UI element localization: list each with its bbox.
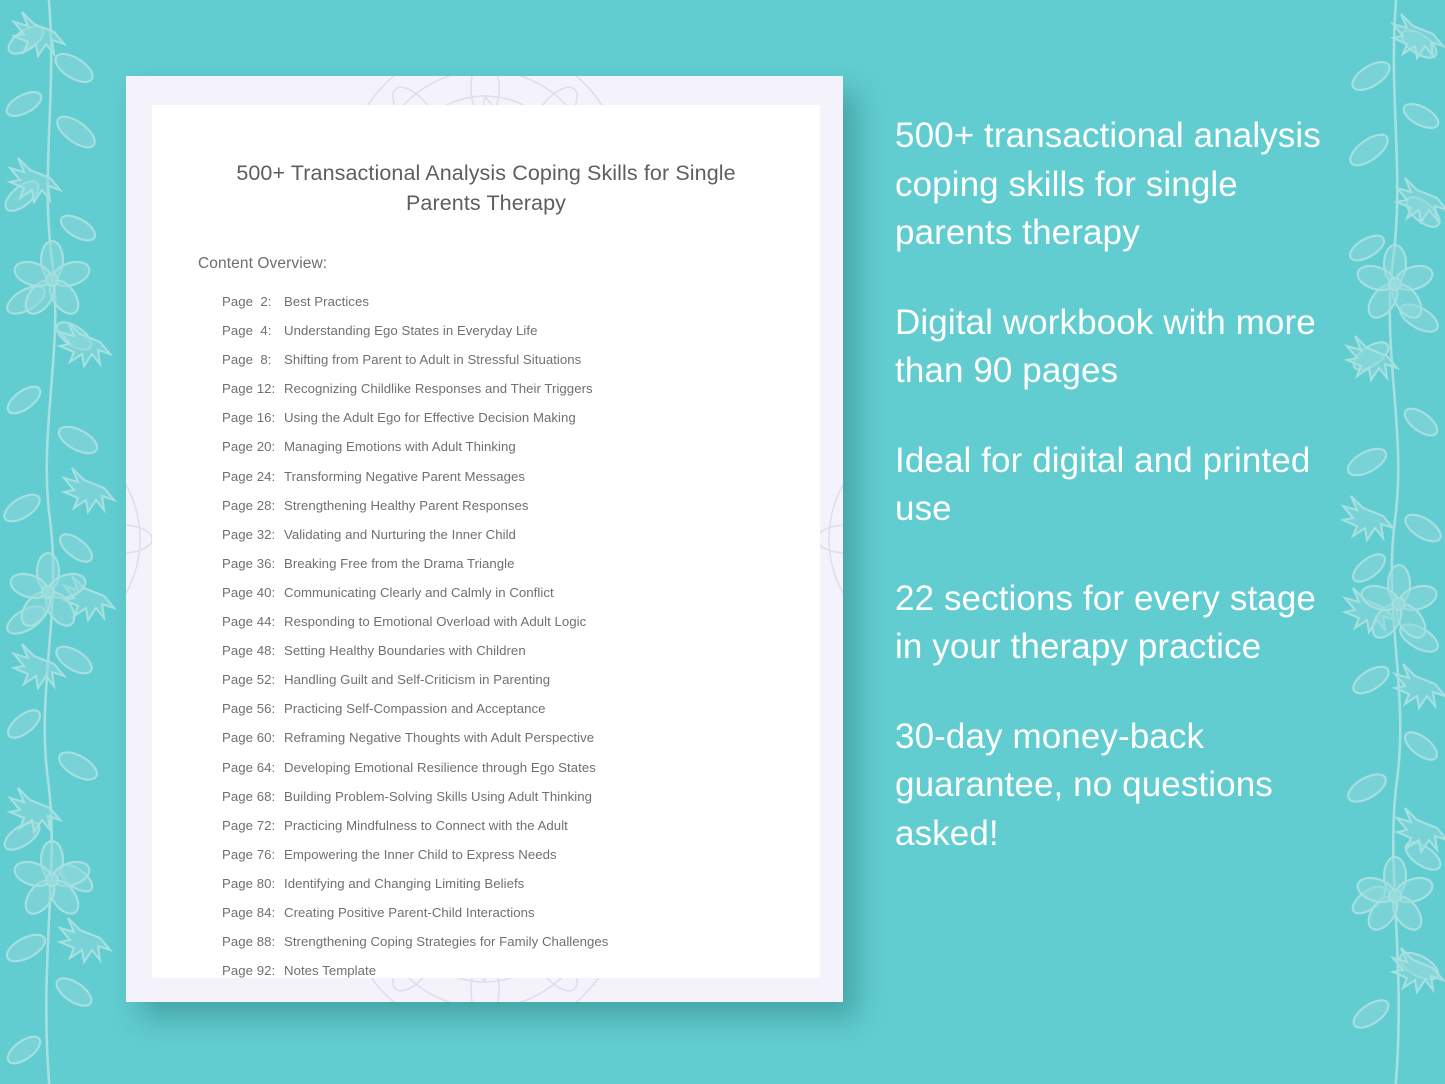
toc-entry-page: Page 88: bbox=[222, 927, 284, 956]
toc-entry-page: Page 84: bbox=[222, 898, 284, 927]
promo-line: 500+ transactional analysis coping skill… bbox=[895, 112, 1325, 258]
toc-entry: Page 2:Best Practices bbox=[222, 287, 820, 316]
toc-entry-title: Responding to Emotional Overload with Ad… bbox=[284, 614, 586, 629]
toc-entry-page: Page 80: bbox=[222, 869, 284, 898]
toc-entry-page: Page 16: bbox=[222, 403, 284, 432]
floral-vine-icon bbox=[0, 0, 128, 1084]
toc-entry: Page 8:Shifting from Parent to Adult in … bbox=[222, 345, 820, 374]
toc-entry-title: Building Problem-Solving Skills Using Ad… bbox=[284, 789, 592, 804]
toc-entry-page: Page 4: bbox=[222, 316, 284, 345]
toc-entry-page: Page 60: bbox=[222, 723, 284, 752]
toc-entry-page: Page 68: bbox=[222, 782, 284, 811]
toc-entry: Page 76:Empowering the Inner Child to Ex… bbox=[222, 840, 820, 869]
toc-entry-title: Practicing Self-Compassion and Acceptanc… bbox=[284, 701, 546, 716]
toc-entry: Page 12:Recognizing Childlike Responses … bbox=[222, 374, 820, 403]
toc-entry-title: Understanding Ego States in Everyday Lif… bbox=[284, 323, 538, 338]
toc-entry-page: Page 32: bbox=[222, 520, 284, 549]
toc-entry: Page 92:Notes Template bbox=[222, 956, 820, 985]
toc-entry-title: Creating Positive Parent-Child Interacti… bbox=[284, 905, 535, 920]
toc-entry: Page 40:Communicating Clearly and Calmly… bbox=[222, 578, 820, 607]
toc-entry-page: Page 92: bbox=[222, 956, 284, 985]
toc-entry-page: Page 48: bbox=[222, 636, 284, 665]
toc-entry: Page 16:Using the Adult Ego for Effectiv… bbox=[222, 403, 820, 432]
toc-entry-title: Setting Healthy Boundaries with Children bbox=[284, 643, 526, 658]
toc-entry-page: Page 2: bbox=[222, 287, 284, 316]
toc-entry: Page 80:Identifying and Changing Limitin… bbox=[222, 869, 820, 898]
toc-entry-title: Managing Emotions with Adult Thinking bbox=[284, 439, 516, 454]
toc-entry: Page 64:Developing Emotional Resilience … bbox=[222, 753, 820, 782]
toc-entry: Page 48:Setting Healthy Boundaries with … bbox=[222, 636, 820, 665]
right-floral-border bbox=[1341, 0, 1445, 1084]
toc-entry-page: Page 44: bbox=[222, 607, 284, 636]
table-of-contents: Page 2:Best PracticesPage 4:Understandin… bbox=[152, 287, 820, 985]
toc-entry-page: Page 76: bbox=[222, 840, 284, 869]
toc-entry-page: Page 8: bbox=[222, 345, 284, 374]
promo-line: Digital workbook with more than 90 pages bbox=[895, 299, 1325, 396]
toc-entry-title: Communicating Clearly and Calmly in Conf… bbox=[284, 585, 554, 600]
toc-entry-page: Page 20: bbox=[222, 432, 284, 461]
toc-entry-title: Developing Emotional Resilience through … bbox=[284, 760, 596, 775]
toc-entry: Page 20:Managing Emotions with Adult Thi… bbox=[222, 432, 820, 461]
toc-entry: Page 72:Practicing Mindfulness to Connec… bbox=[222, 811, 820, 840]
toc-entry: Page 36:Breaking Free from the Drama Tri… bbox=[222, 549, 820, 578]
toc-entry-title: Using the Adult Ego for Effective Decisi… bbox=[284, 410, 576, 425]
toc-entry-title: Shifting from Parent to Adult in Stressf… bbox=[284, 352, 581, 367]
toc-entry-title: Notes Template bbox=[284, 963, 376, 978]
toc-entry-title: Transforming Negative Parent Messages bbox=[284, 469, 525, 484]
promo-text-block: 500+ transactional analysis coping skill… bbox=[895, 112, 1325, 858]
toc-entry-title: Reframing Negative Thoughts with Adult P… bbox=[284, 730, 594, 745]
toc-entry-title: Strengthening Healthy Parent Responses bbox=[284, 498, 529, 513]
toc-entry-page: Page 52: bbox=[222, 665, 284, 694]
toc-entry-page: Page 12: bbox=[222, 374, 284, 403]
toc-entry: Page 24:Transforming Negative Parent Mes… bbox=[222, 462, 820, 491]
toc-entry-page: Page 36: bbox=[222, 549, 284, 578]
promo-line: 22 sections for every stage in your ther… bbox=[895, 575, 1325, 672]
document-page: 500+ Transactional Analysis Coping Skill… bbox=[152, 105, 820, 978]
toc-entry: Page 84:Creating Positive Parent-Child I… bbox=[222, 898, 820, 927]
toc-entry-title: Empowering the Inner Child to Express Ne… bbox=[284, 847, 557, 862]
toc-entry: Page 4:Understanding Ego States in Every… bbox=[222, 316, 820, 345]
toc-entry: Page 28:Strengthening Healthy Parent Res… bbox=[222, 491, 820, 520]
floral-vine-icon bbox=[1341, 0, 1445, 1084]
toc-entry-page: Page 28: bbox=[222, 491, 284, 520]
toc-entry: Page 52:Handling Guilt and Self-Criticis… bbox=[222, 665, 820, 694]
toc-entry-page: Page 24: bbox=[222, 462, 284, 491]
toc-entry: Page 88:Strengthening Coping Strategies … bbox=[222, 927, 820, 956]
toc-entry: Page 44:Responding to Emotional Overload… bbox=[222, 607, 820, 636]
toc-entry-page: Page 72: bbox=[222, 811, 284, 840]
toc-entry: Page 32:Validating and Nurturing the Inn… bbox=[222, 520, 820, 549]
left-floral-border bbox=[0, 0, 128, 1084]
toc-entry-page: Page 40: bbox=[222, 578, 284, 607]
toc-entry: Page 56:Practicing Self-Compassion and A… bbox=[222, 694, 820, 723]
toc-entry-title: Validating and Nurturing the Inner Child bbox=[284, 527, 516, 542]
toc-entry-title: Strengthening Coping Strategies for Fami… bbox=[284, 934, 608, 949]
toc-entry-title: Recognizing Childlike Responses and Thei… bbox=[284, 381, 593, 396]
toc-entry: Page 68:Building Problem-Solving Skills … bbox=[222, 782, 820, 811]
document-preview-card[interactable]: 500+ Transactional Analysis Coping Skill… bbox=[126, 76, 843, 1002]
toc-entry-title: Identifying and Changing Limiting Belief… bbox=[284, 876, 524, 891]
toc-entry-title: Best Practices bbox=[284, 294, 369, 309]
toc-entry: Page 60:Reframing Negative Thoughts with… bbox=[222, 723, 820, 752]
toc-entry-page: Page 64: bbox=[222, 753, 284, 782]
toc-entry-title: Handling Guilt and Self-Criticism in Par… bbox=[284, 672, 550, 687]
toc-entry-title: Practicing Mindfulness to Connect with t… bbox=[284, 818, 568, 833]
toc-entry-title: Breaking Free from the Drama Triangle bbox=[284, 556, 515, 571]
promo-line: Ideal for digital and printed use bbox=[895, 437, 1325, 534]
promo-line: 30-day money-back guarantee, no question… bbox=[895, 713, 1325, 859]
toc-entry-page: Page 56: bbox=[222, 694, 284, 723]
page-title: 500+ Transactional Analysis Coping Skill… bbox=[226, 105, 746, 218]
content-overview-label: Content Overview: bbox=[152, 255, 820, 273]
